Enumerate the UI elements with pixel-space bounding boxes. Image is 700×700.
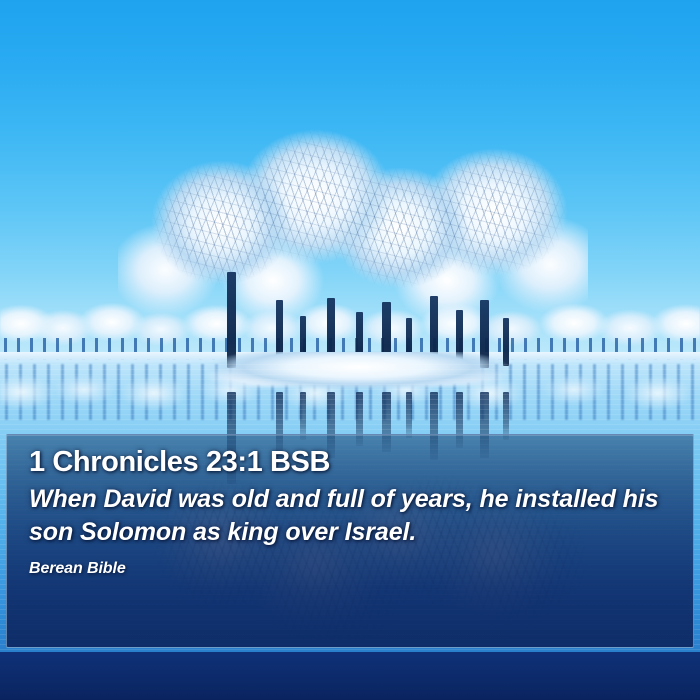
verse-reference: 1 Chronicles 23:1 BSB bbox=[29, 445, 677, 479]
bible-verse-image-card: 1 Chronicles 23:1 BSB When David was old… bbox=[0, 0, 700, 700]
tree-trunk-reflection bbox=[300, 392, 306, 440]
footer-bar bbox=[0, 652, 700, 700]
verse-overlay-panel: 1 Chronicles 23:1 BSB When David was old… bbox=[6, 434, 694, 648]
tree-trunk-reflection bbox=[503, 392, 509, 440]
snowy-island-bank bbox=[198, 352, 518, 394]
tree-branch-texture bbox=[118, 118, 588, 380]
bible-translation-attribution: Berean Bible bbox=[29, 560, 677, 578]
tree-trunk-reflection bbox=[406, 392, 412, 438]
verse-text: When David was old and full of years, he… bbox=[29, 483, 677, 549]
